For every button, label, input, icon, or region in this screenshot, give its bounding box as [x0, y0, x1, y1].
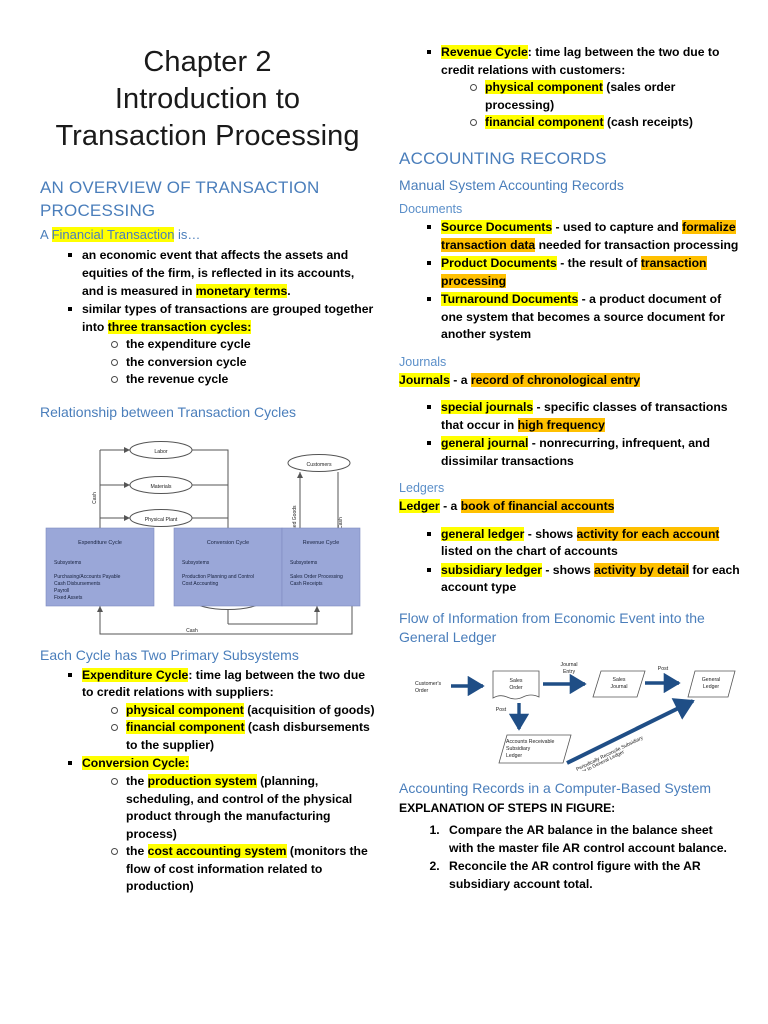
svg-text:Customer's: Customer's — [415, 681, 441, 687]
list-item: Reconcile the AR control figure with the… — [443, 858, 740, 893]
list-item: Source Documents - used to capture and f… — [427, 219, 740, 254]
journals-mid: - a — [450, 373, 471, 387]
information-flow-diagram: Customer's Order Sales Order Journal Ent… — [407, 653, 737, 771]
ledgers-bullets: general ledger - shows activity for each… — [399, 526, 740, 597]
svg-text:Physical Plant: Physical Plant — [145, 517, 178, 523]
explanation-heading: EXPLANATION OF STEPS IN FIGURE: — [399, 800, 740, 816]
lead-suffix: is… — [174, 227, 200, 242]
overview-bullets: an economic event that affects the asset… — [40, 247, 375, 389]
list-item: financial component (cash receipts) — [469, 114, 740, 132]
svg-text:Conversion Cycle: Conversion Cycle — [207, 540, 249, 546]
transaction-cycle-sublist: the expenditure cycle the conversion cyc… — [82, 336, 375, 389]
svg-text:Ledger: Ledger — [506, 753, 522, 759]
svg-text:Accounts Receivable: Accounts Receivable — [506, 739, 555, 745]
rev-physical-highlight: physical component — [485, 80, 603, 94]
list-item: Product Documents - the result of transa… — [427, 255, 740, 290]
svg-text:Sales: Sales — [510, 678, 523, 684]
svg-text:General: General — [702, 677, 720, 683]
general-ledger-tail: listed on the chart of accounts — [441, 544, 618, 558]
subsystems-heading: Each Cycle has Two Primary Subsystems — [40, 646, 375, 665]
svg-text:Order: Order — [415, 688, 429, 694]
list-item: financial component (cash disbursements … — [110, 719, 375, 754]
overview-heading-line-1: AN OVERVIEW OF TRANSACTION — [40, 178, 319, 197]
list-item: general ledger - shows activity for each… — [427, 526, 740, 561]
computer-based-heading: Accounting Records in a Computer-Based S… — [399, 779, 740, 798]
book-of-financial-accounts-highlight: book of financial accounts — [461, 499, 615, 513]
financial-component-highlight: financial component — [126, 720, 245, 734]
activity-by-detail-highlight: activity by detail — [594, 563, 689, 577]
cost-accounting-prefix: the — [126, 844, 148, 858]
document-page: Chapter 2 Introduction to Transaction Pr… — [0, 0, 768, 1024]
svg-text:Production Planning and Contro: Production Planning and Control — [182, 574, 254, 580]
svg-text:Journal: Journal — [611, 684, 628, 690]
revenue-cycle-bullets: Revenue Cycle: time lag between the two … — [399, 44, 740, 132]
general-ledger-highlight: general ledger — [441, 527, 524, 541]
cycle-subsystem-bullets: Expenditure Cycle: time lag between the … — [40, 667, 375, 896]
expenditure-sublist: physical component (acquisition of goods… — [82, 702, 375, 755]
product-documents-mid: - the result of — [557, 256, 641, 270]
svg-text:Payroll: Payroll — [54, 588, 69, 594]
ledger-definition: Ledger - a book of financial accounts — [399, 498, 740, 515]
general-ledger-mid: - shows — [524, 527, 576, 541]
svg-text:Materials: Materials — [150, 484, 171, 490]
activity-each-account-highlight: activity for each account — [577, 527, 720, 541]
high-frequency-highlight: high frequency — [518, 418, 605, 432]
revenue-sublist: physical component (sales order processi… — [441, 79, 740, 132]
svg-text:Cash: Cash — [186, 628, 198, 634]
list-item: Expenditure Cycle: time lag between the … — [68, 667, 375, 755]
list-item: Turnaround Documents - a product documen… — [427, 291, 740, 344]
svg-text:Sales Order Processing: Sales Order Processing — [290, 574, 343, 580]
svg-text:Customers: Customers — [306, 462, 331, 468]
ledger-term-highlight: Ledger — [399, 499, 440, 513]
production-system-highlight: production system — [148, 774, 257, 788]
svg-text:Cash Receipts: Cash Receipts — [290, 581, 323, 587]
journals-definition: Journals - a record of chronological ent… — [399, 372, 740, 389]
subsidiary-ledger-highlight: subsidiary ledger — [441, 563, 542, 577]
list-item: special journals - specific classes of t… — [427, 399, 740, 434]
turnaround-documents-highlight: Turnaround Documents — [441, 292, 578, 306]
rev-financial-text: (cash receipts) — [604, 115, 693, 129]
source-documents-mid: - used to capture and — [552, 220, 682, 234]
svg-text:Subsystems: Subsystems — [182, 560, 210, 566]
bullet1-highlight: monetary terms — [196, 284, 287, 298]
documents-heading: Documents — [399, 201, 740, 218]
svg-text:Purchasing/Accounts Payable: Purchasing/Accounts Payable — [54, 574, 121, 580]
svg-text:Order: Order — [509, 685, 523, 691]
title-line-1: Chapter 2 — [40, 44, 375, 81]
svg-text:Entry: Entry — [563, 669, 576, 675]
conversion-cycle-highlight: Conversion Cycle: — [82, 756, 189, 770]
ledger-mid: - a — [440, 499, 461, 513]
accounting-records-heading: ACCOUNTING RECORDS — [399, 148, 740, 170]
list-item: the revenue cycle — [110, 371, 375, 389]
lead-prefix: A — [40, 227, 52, 242]
svg-text:Subsidiary: Subsidiary — [506, 746, 531, 752]
production-system-prefix: the — [126, 774, 148, 788]
bullet1-tail: . — [287, 284, 290, 298]
svg-text:Cost Accounting: Cost Accounting — [182, 581, 218, 587]
svg-text:Cash: Cash — [338, 517, 344, 529]
svg-text:Subsystems: Subsystems — [290, 560, 318, 566]
svg-text:Revenue Cycle: Revenue Cycle — [303, 540, 340, 546]
list-item: subsidiary ledger - shows activity by de… — [427, 562, 740, 597]
revenue-cycle-highlight: Revenue Cycle — [441, 45, 528, 59]
title-line-2: Introduction to — [40, 81, 375, 118]
journals-heading: Journals — [399, 354, 740, 371]
left-column: Chapter 2 Introduction to Transaction Pr… — [28, 28, 375, 1014]
list-item: the expenditure cycle — [110, 336, 375, 354]
list-item: an economic event that affects the asset… — [68, 247, 375, 300]
flow-of-information-heading: Flow of Information from Economic Event … — [399, 609, 740, 647]
svg-text:Labor: Labor — [154, 449, 168, 455]
list-item: Revenue Cycle: time lag between the two … — [427, 44, 740, 132]
expenditure-cycle-highlight: Expenditure Cycle — [82, 668, 188, 682]
chronological-entry-highlight: record of chronological entry — [471, 373, 640, 387]
svg-text:Post: Post — [658, 666, 669, 672]
special-journals-highlight: special journals — [441, 400, 533, 414]
conversion-sublist: the production system (planning, schedul… — [82, 773, 375, 896]
svg-text:Ledger: Ledger — [703, 684, 719, 690]
list-item: Conversion Cycle: the production system … — [68, 755, 375, 896]
physical-component-text: (acquisition of goods) — [244, 703, 375, 717]
relationship-heading: Relationship between Transaction Cycles — [40, 403, 375, 422]
overview-heading: AN OVERVIEW OF TRANSACTION PROCESSING — [40, 177, 375, 222]
ledgers-heading: Ledgers — [399, 480, 740, 497]
product-documents-highlight: Product Documents — [441, 256, 557, 270]
general-journal-highlight: general journal — [441, 436, 528, 450]
documents-bullets: Source Documents - used to capture and f… — [399, 219, 740, 344]
rev-financial-highlight: financial component — [485, 115, 604, 129]
title-line-3: Transaction Processing — [40, 118, 375, 155]
source-documents-tail: needed for transaction processing — [535, 238, 738, 252]
journals-bullets: special journals - specific classes of t… — [399, 399, 740, 470]
list-item: the production system (planning, schedul… — [110, 773, 375, 843]
list-item: the conversion cycle — [110, 354, 375, 372]
svg-text:Expenditure Cycle: Expenditure Cycle — [78, 540, 122, 546]
list-item: general journal - nonrecurring, infreque… — [427, 435, 740, 470]
list-item: the cost accounting system (monitors the… — [110, 843, 375, 896]
svg-text:Journal: Journal — [561, 662, 578, 668]
financial-transaction-lead: A Financial Transaction is… — [40, 226, 375, 244]
list-item: similar types of transactions are groupe… — [68, 301, 375, 389]
list-item: physical component (sales order processi… — [469, 79, 740, 114]
svg-text:Cash Disbursements: Cash Disbursements — [54, 581, 101, 587]
subsidiary-ledger-mid: - shows — [542, 563, 594, 577]
list-item: physical component (acquisition of goods… — [110, 702, 375, 720]
svg-text:Cash: Cash — [92, 492, 98, 504]
bullet2-highlight: three transaction cycles: — [108, 320, 252, 334]
explanation-steps: Compare the AR balance in the balance sh… — [399, 822, 740, 893]
overview-heading-line-2: PROCESSING — [40, 201, 155, 220]
source-documents-highlight: Source Documents — [441, 220, 552, 234]
document-title: Chapter 2 Introduction to Transaction Pr… — [40, 44, 375, 155]
svg-text:Post: Post — [496, 707, 507, 713]
svg-text:Sales: Sales — [613, 677, 626, 683]
transaction-cycles-diagram: Labor Materials Physical Plant Customers… — [42, 428, 364, 640]
manual-system-heading: Manual System Accounting Records — [399, 176, 740, 195]
cost-accounting-highlight: cost accounting system — [148, 844, 287, 858]
right-column: Revenue Cycle: time lag between the two … — [393, 28, 740, 1014]
list-item: Compare the AR balance in the balance sh… — [443, 822, 740, 857]
lead-highlight: Financial Transaction — [52, 227, 175, 242]
physical-component-highlight: physical component — [126, 703, 244, 717]
svg-text:Subsystems: Subsystems — [54, 560, 82, 566]
svg-text:Fixed Assets: Fixed Assets — [54, 595, 83, 601]
journals-term-highlight: Journals — [399, 373, 450, 387]
